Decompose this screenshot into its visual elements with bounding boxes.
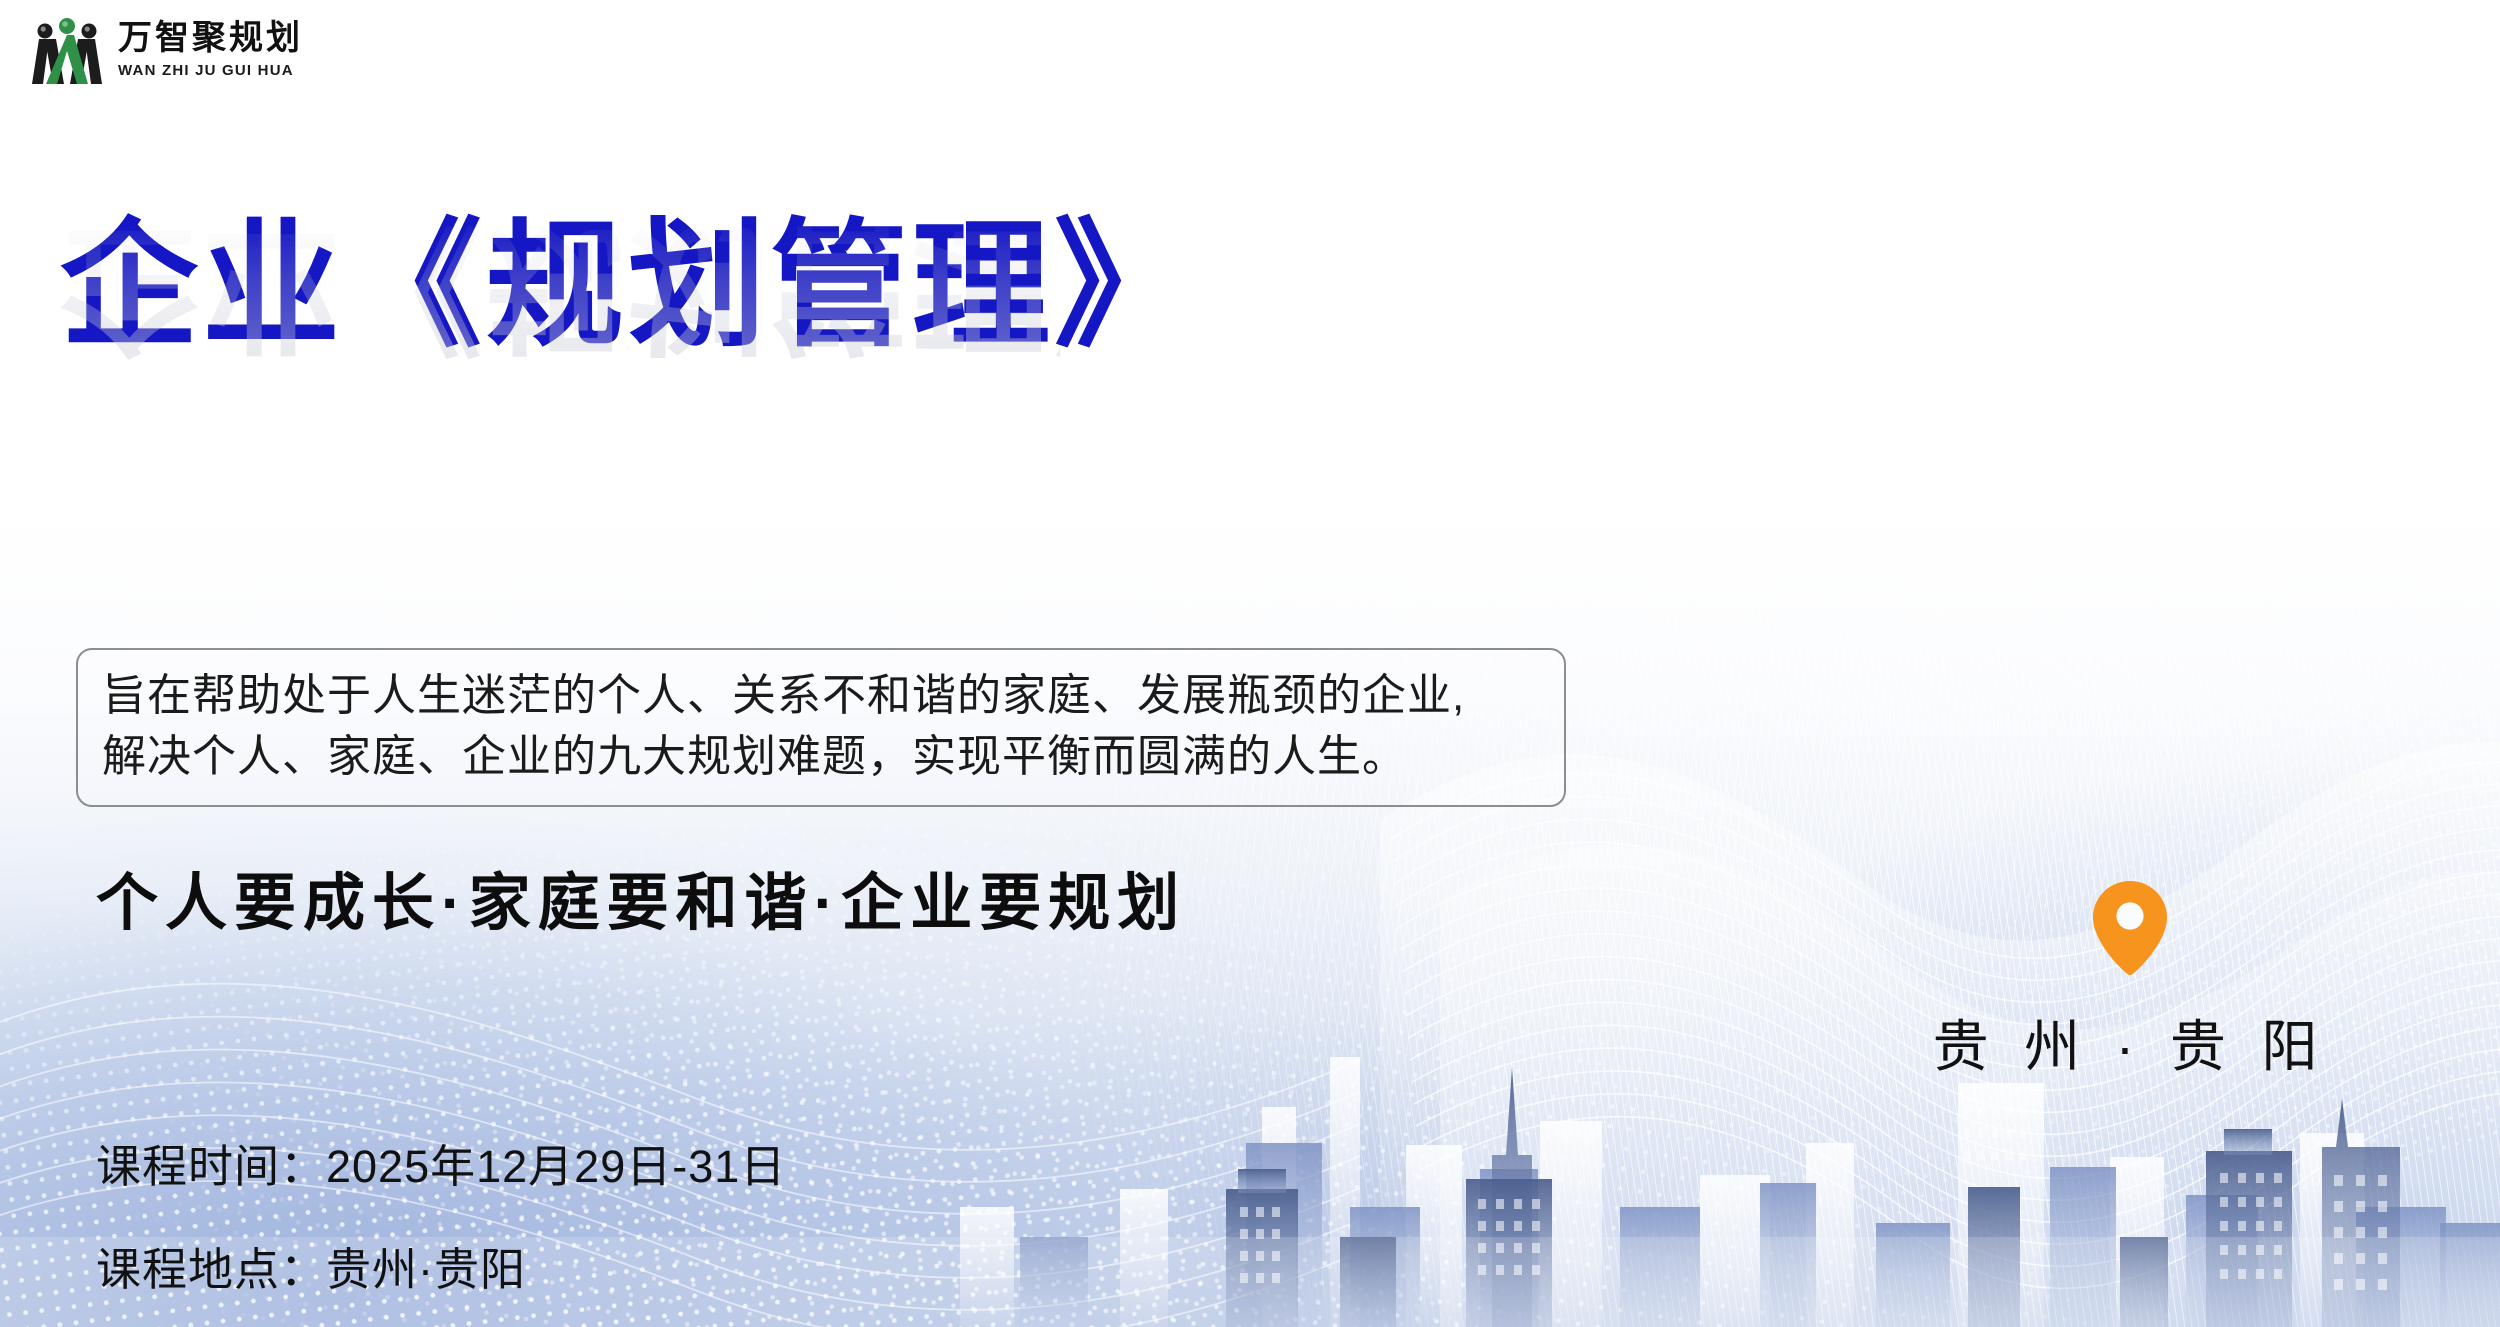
course-time: 课程时间：2025年12月29日-31日 <box>96 1130 786 1195</box>
brand-name-pinyin: WAN ZHI JU GUI HUA <box>118 63 303 78</box>
description-line-1: 旨在帮助处于人生迷茫的个人、关系不和谐的家庭、发展瓶颈的企业, <box>102 666 1540 727</box>
course-info: 课程时间：2025年12月29日-31日 课程地点：贵州·贵阳 <box>96 1130 786 1298</box>
location-text: 贵 州 · 贵 阳 <box>1933 1002 2328 1083</box>
promo-banner: 万智聚规划 WAN ZHI JU GUI HUA 企业《规划管理》 企业《规划管… <box>0 0 2500 1327</box>
tagline: 个人要成长·家庭要和谐·企业要规划 <box>96 852 1186 942</box>
description-box: 旨在帮助处于人生迷茫的个人、关系不和谐的家庭、发展瓶颈的企业, 解决个人、家庭、… <box>76 648 1566 807</box>
title-reflection: 企业《规划管理》 <box>60 205 1060 368</box>
map-pin-icon <box>2091 880 2169 976</box>
description-line-2: 解决个人、家庭、企业的九大规划难题，实现平衡而圆满的人生。 <box>102 727 1540 788</box>
course-place: 课程地点：贵州·贵阳 <box>96 1233 786 1298</box>
brand-logo: 万智聚规划 WAN ZHI JU GUI HUA <box>30 14 303 86</box>
brand-name-cn: 万智聚规划 <box>118 22 303 56</box>
location-badge: 贵 州 · 贵 阳 <box>1960 880 2300 1083</box>
three-people-mark-icon <box>30 14 104 86</box>
title-block: 企业《规划管理》 企业《规划管理》 <box>60 205 1060 531</box>
